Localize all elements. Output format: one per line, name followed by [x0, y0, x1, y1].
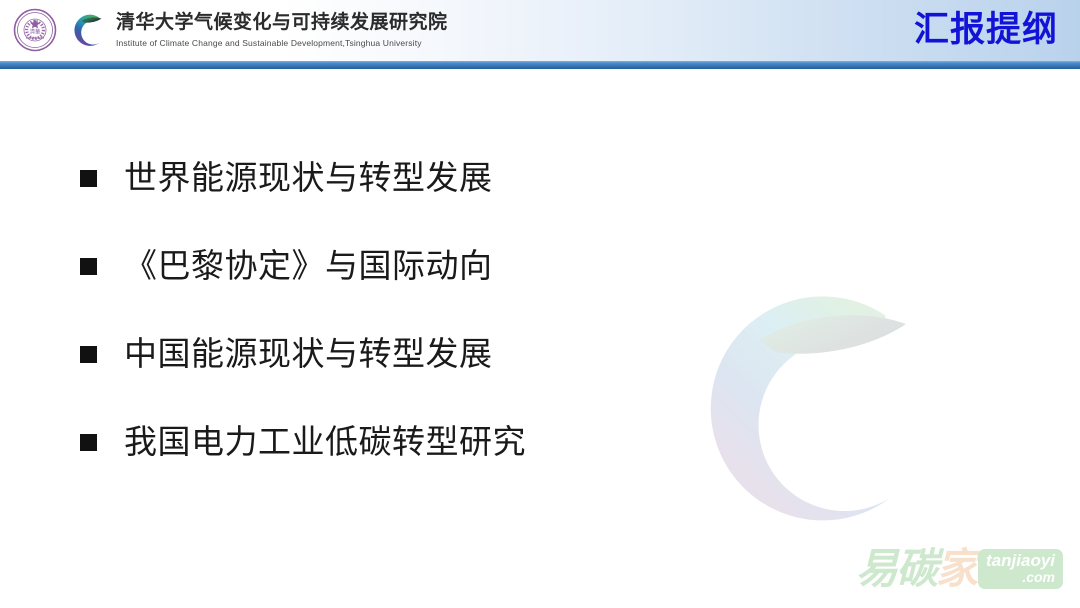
list-item-label: 我国电力工业低碳转型研究: [124, 419, 526, 465]
watermark-url-line2: .com: [1022, 570, 1055, 585]
list-item-label: 世界能源现状与转型发展: [124, 155, 493, 201]
list-item: 我国电力工业低碳转型研究: [80, 419, 526, 465]
list-item-label: 中国能源现状与转型发展: [124, 331, 493, 377]
institute-name-cn: 清华大学气候变化与可持续发展研究院: [116, 12, 448, 34]
list-item: 《巴黎协定》与国际动向: [80, 243, 493, 289]
page-title: 汇报提纲: [914, 8, 1058, 52]
institute-c-logo-icon: [66, 7, 106, 53]
bullet-square-icon: [80, 170, 97, 187]
tsinghua-seal-icon: 清華: [12, 7, 58, 53]
slide-root: 清華: [0, 0, 1080, 608]
watermark-char-yi: 易: [856, 545, 896, 592]
list-item: 中国能源现状与转型发展: [80, 331, 493, 377]
list-item-label: 《巴黎协定》与国际动向: [124, 243, 493, 289]
tanjiaoyi-watermark: 易碳家 tanjiaoyi .com: [856, 540, 1068, 598]
watermark-char-tan: 碳: [896, 545, 936, 592]
tanjiaoyi-url-badge: tanjiaoyi .com: [978, 549, 1063, 589]
outline-list: 世界能源现状与转型发展 《巴黎协定》与国际动向 中国能源现状与转型发展 我国电力…: [0, 69, 1080, 608]
bullet-square-icon: [80, 434, 97, 451]
institute-name-block: 清华大学气候变化与可持续发展研究院 Institute of Climate C…: [116, 12, 448, 49]
watermark-char-jia: 家: [936, 545, 976, 592]
header-divider-bar: [0, 61, 1080, 69]
institute-brand: 清華: [12, 7, 448, 53]
tanjiaoyi-brand-text: 易碳家: [856, 543, 976, 595]
bullet-square-icon: [80, 346, 97, 363]
svg-text:清華: 清華: [30, 28, 41, 36]
bullet-square-icon: [80, 258, 97, 275]
slide-header: 清華: [0, 0, 1080, 61]
list-item: 世界能源现状与转型发展: [80, 155, 493, 201]
institute-name-en: Institute of Climate Change and Sustaina…: [116, 37, 448, 49]
watermark-url-line1: tanjiaoyi: [986, 552, 1055, 570]
